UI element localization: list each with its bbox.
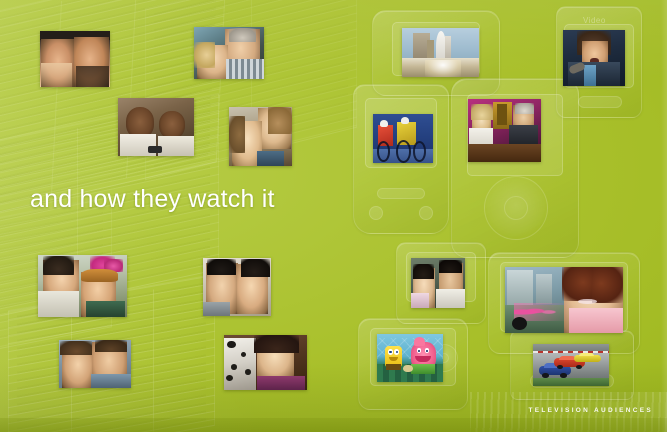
photo-cartoon-sponge xyxy=(377,334,443,382)
photo-boy-and-man xyxy=(59,340,131,388)
bottom-edge-strip xyxy=(0,418,667,432)
photo-older-couple xyxy=(194,27,264,79)
photo-cyclists-race xyxy=(373,114,433,163)
photo-talk-show xyxy=(468,99,541,162)
slide-headline: and how they watch it xyxy=(30,186,275,214)
photo-asian-couple xyxy=(203,258,271,316)
footer-wordmark: TELEVISION AUDIENCES xyxy=(529,407,654,414)
photo-stock-car-race xyxy=(533,344,609,386)
photo-couple-lying-down xyxy=(118,98,194,156)
right-edge-strip xyxy=(661,0,667,432)
ghost-label-video: Video xyxy=(583,16,606,25)
photo-asian-drama xyxy=(411,258,465,308)
presentation-slide: Video xyxy=(0,0,667,432)
photo-young-couple-smiling xyxy=(40,31,110,87)
photo-rock-singer xyxy=(563,30,625,86)
photo-mother-daughter xyxy=(229,107,292,166)
photo-space-shuttle-launch xyxy=(402,28,479,77)
photo-girl-with-dalmatian xyxy=(224,335,307,390)
photo-man-woman-cap xyxy=(38,255,127,317)
photo-drama-promo xyxy=(505,267,623,333)
